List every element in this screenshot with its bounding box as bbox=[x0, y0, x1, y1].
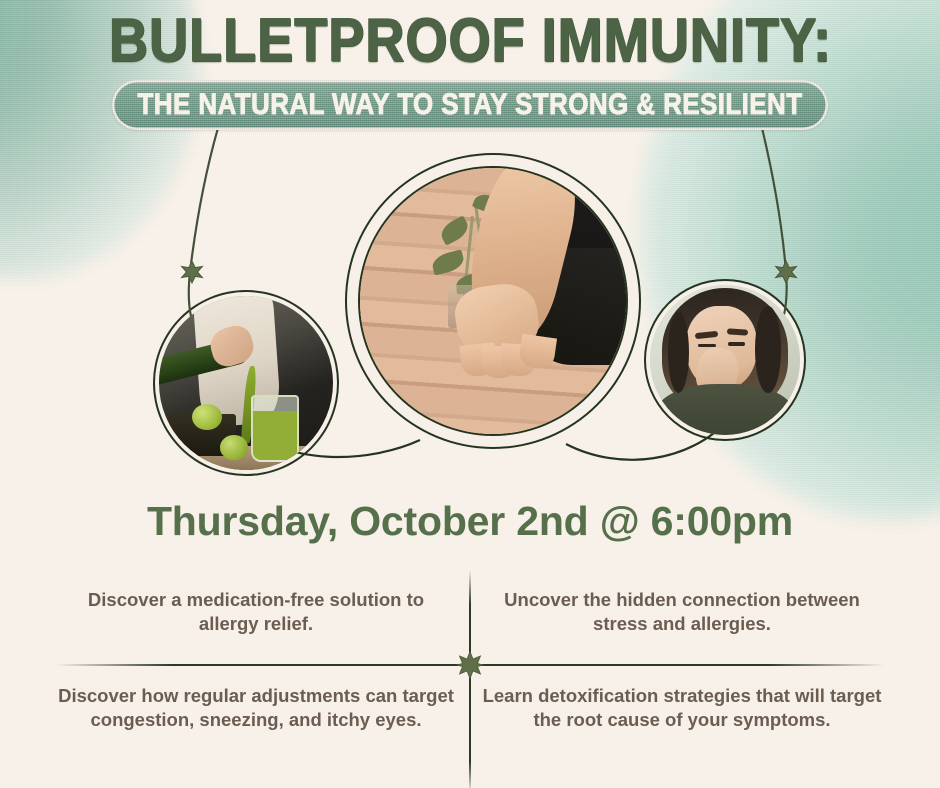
green-juice-pour-image bbox=[159, 296, 333, 470]
benefit-item-4: Learn detoxification strategies that wil… bbox=[482, 684, 882, 732]
subtitle-text: THE NATURAL WAY TO STAY STRONG & RESILIE… bbox=[138, 87, 803, 122]
chiropractic-adjustment-image bbox=[360, 168, 626, 434]
photo-circle-center bbox=[360, 168, 626, 434]
headline-container: BULLETPROOF IMMUNITY: bbox=[0, 10, 940, 64]
woman-sneezing-image bbox=[650, 285, 800, 435]
star-node-right-icon bbox=[776, 261, 797, 283]
event-date: Thursday, October 2nd @ 6:00pm bbox=[0, 498, 940, 545]
photo-circle-left bbox=[159, 296, 333, 470]
star-node-left-icon bbox=[182, 261, 203, 283]
star-divider-icon bbox=[455, 650, 485, 680]
subtitle-container: THE NATURAL WAY TO STAY STRONG & RESILIE… bbox=[0, 80, 940, 135]
photo-circle-right bbox=[650, 285, 800, 435]
benefit-item-3: Discover how regular adjustments can tar… bbox=[56, 684, 456, 732]
benefit-item-1: Discover a medication-free solution to a… bbox=[56, 588, 456, 636]
green-gradient-blob-top-right bbox=[640, 0, 940, 520]
benefit-item-2: Uncover the hidden connection between st… bbox=[482, 588, 882, 636]
event-flyer: BULLETPROOF IMMUNITY: THE NATURAL WAY TO… bbox=[0, 0, 940, 788]
benefits-grid: Discover a medication-free solution to a… bbox=[0, 566, 940, 788]
page-title: BULLETPROOF IMMUNITY: bbox=[108, 10, 831, 73]
subtitle-pill: THE NATURAL WAY TO STAY STRONG & RESILIE… bbox=[112, 80, 829, 130]
